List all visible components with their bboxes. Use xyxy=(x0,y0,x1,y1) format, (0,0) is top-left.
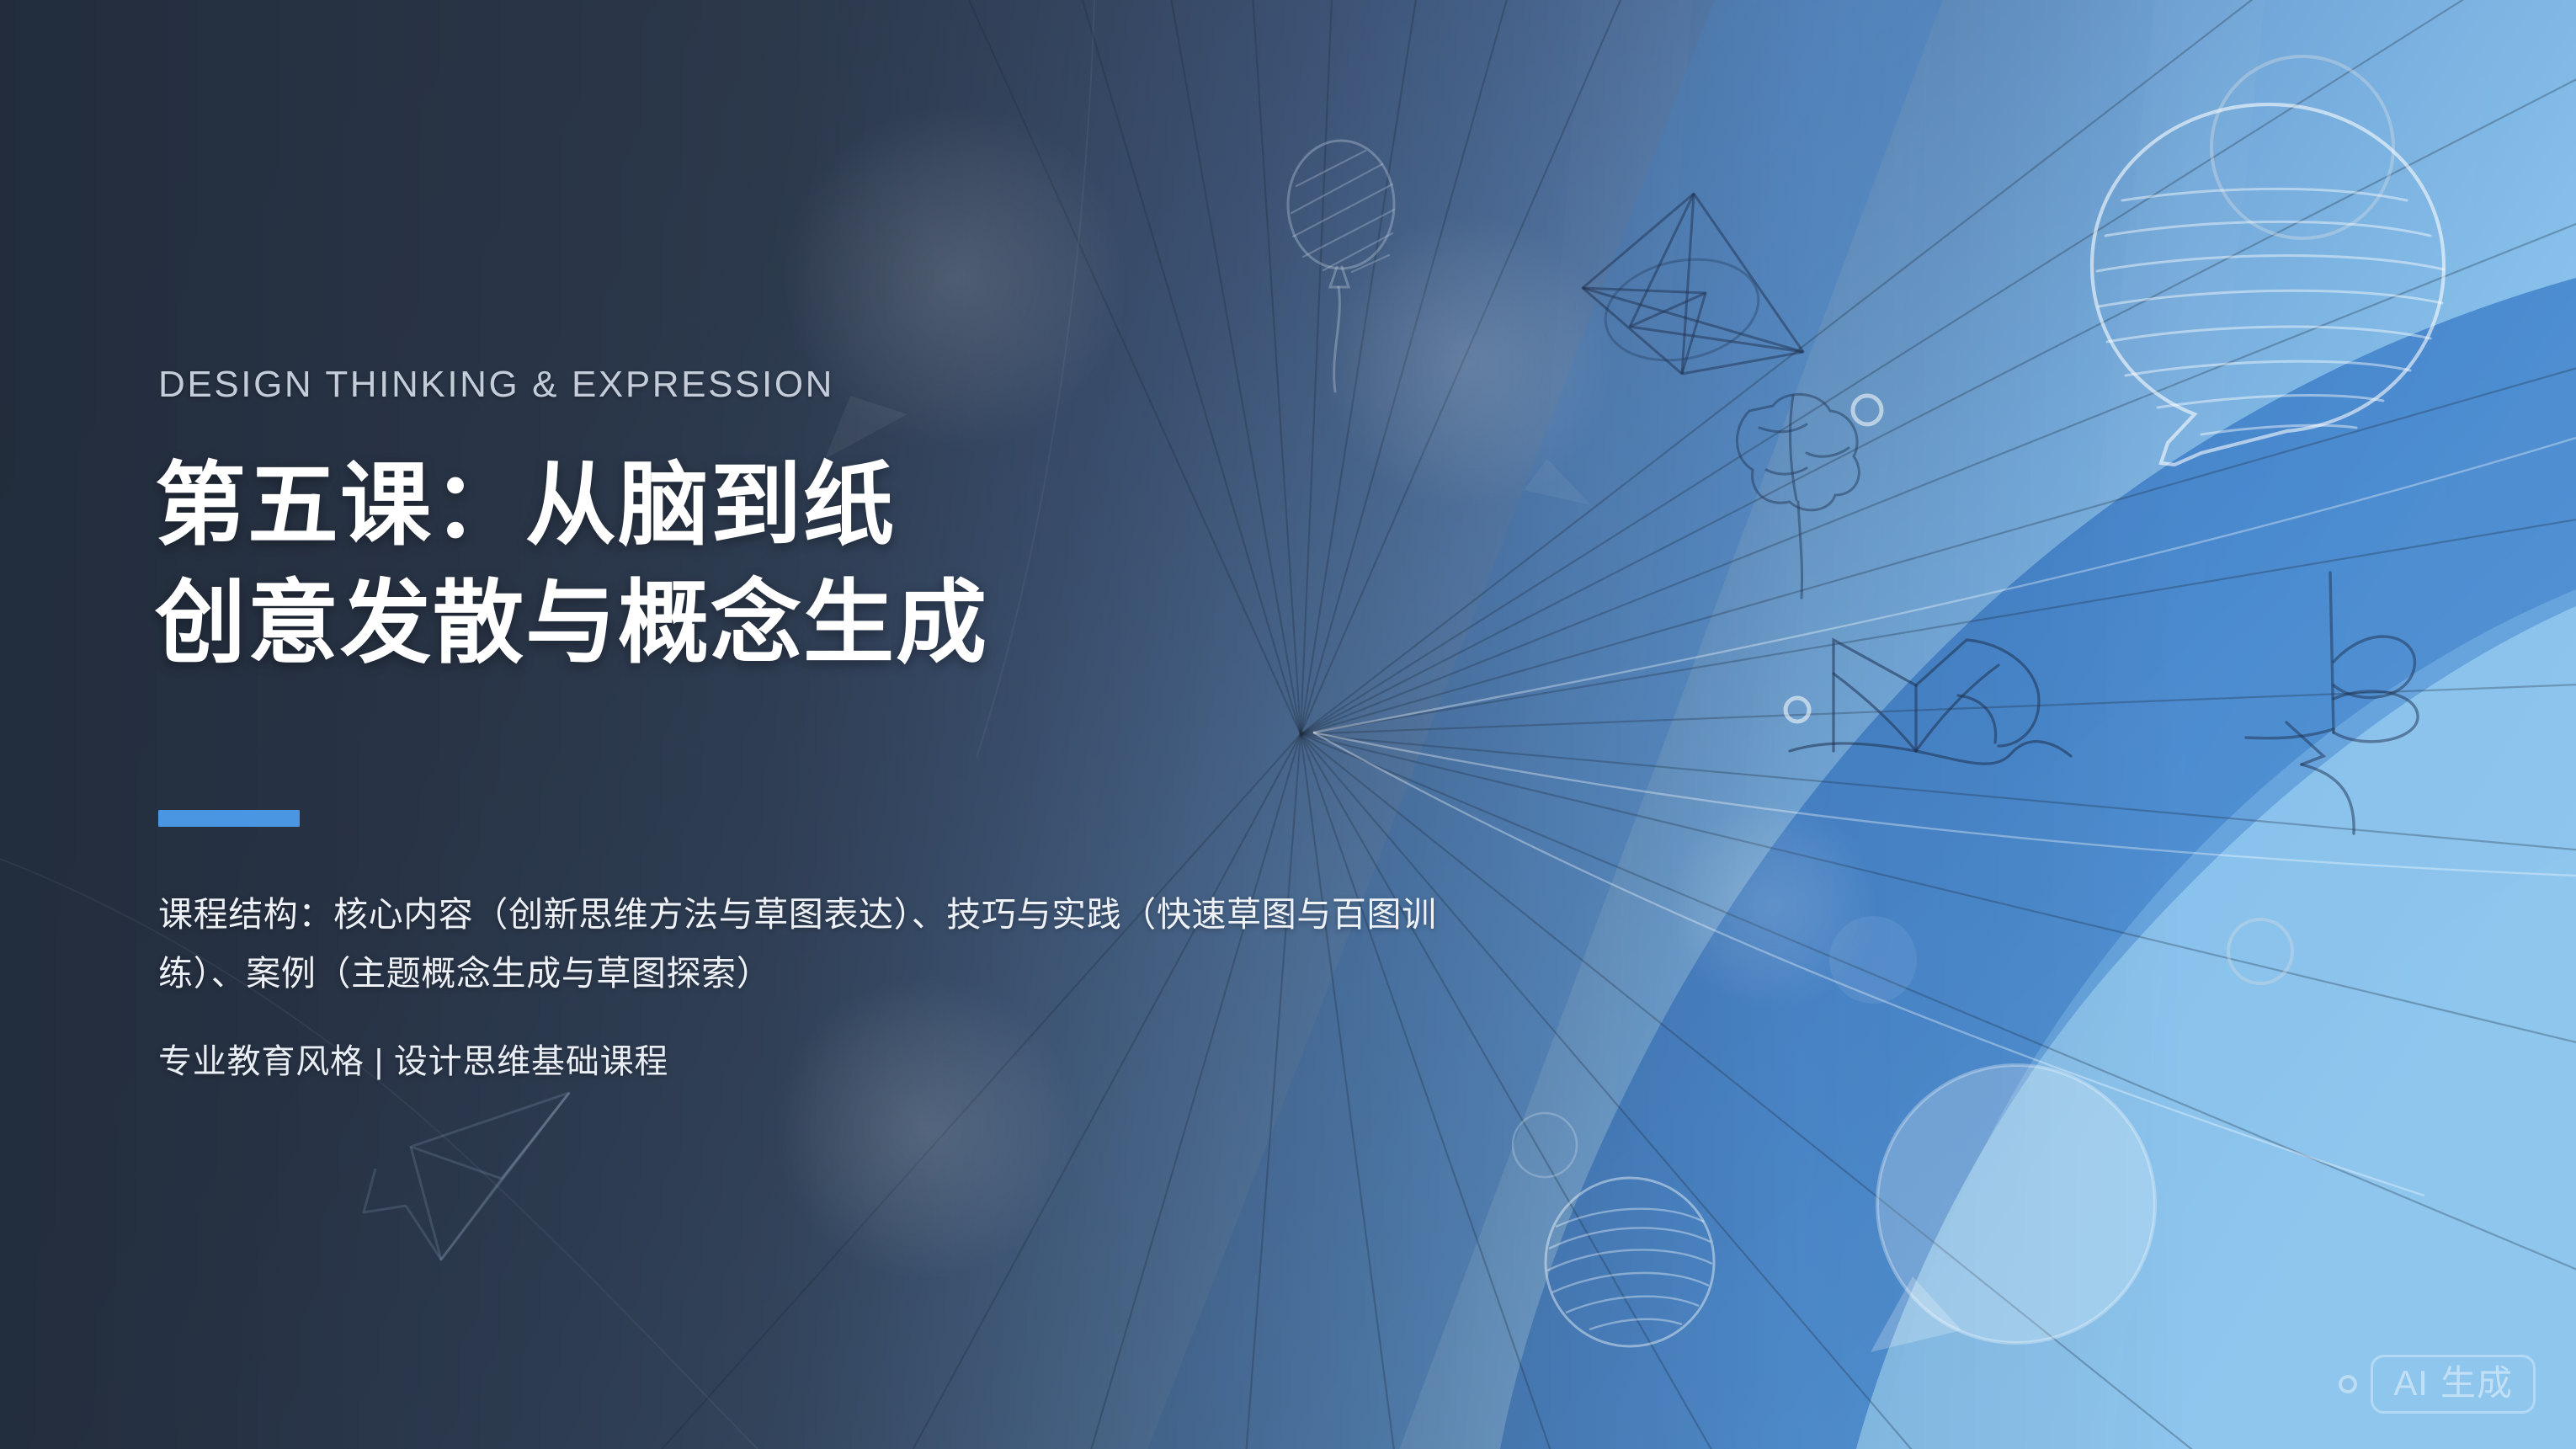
accent-divider-bar xyxy=(158,810,300,827)
slide-eyebrow: DESIGN THINKING & EXPRESSION xyxy=(158,364,834,406)
course-structure-text: 课程结构：核心内容（创新思维方法与草图表达）、技巧与实践（快速草图与百图训练）、… xyxy=(158,886,1514,1003)
course-meta-text: 专业教育风格 | 设计思维基础课程 xyxy=(158,1034,668,1083)
presentation-slide: DESIGN THINKING & EXPRESSION 第五课：从脑到纸 创意… xyxy=(0,0,2576,1449)
title-line-1: 第五课：从脑到纸 xyxy=(155,446,1418,564)
ai-generated-badge: AI 生成 xyxy=(2339,1355,2536,1414)
ai-generated-pill: AI 生成 xyxy=(2371,1355,2536,1414)
slide-background xyxy=(0,0,2576,1449)
page-title: 第五课：从脑到纸 创意发散与概念生成 xyxy=(155,446,1418,683)
title-line-2: 创意发散与概念生成 xyxy=(155,564,1418,682)
generated-label: 生成 xyxy=(2440,1366,2513,1401)
badge-dot-icon xyxy=(2339,1375,2357,1393)
ai-label: AI xyxy=(2393,1366,2429,1401)
